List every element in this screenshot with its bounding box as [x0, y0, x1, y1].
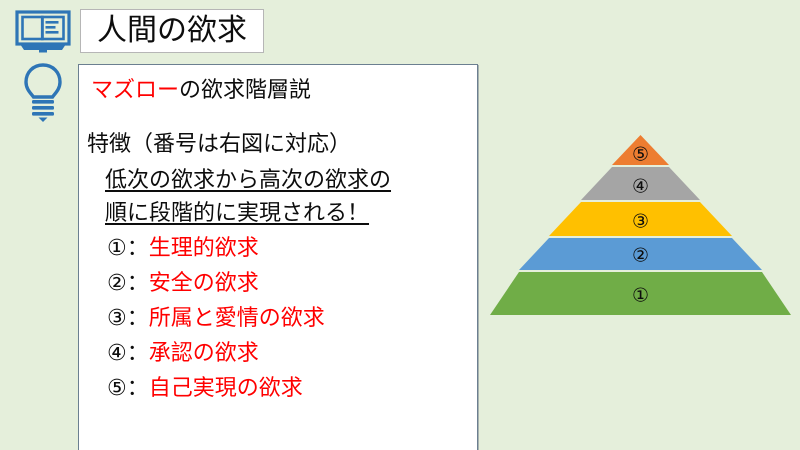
maslow-heading-accent: マズロー [91, 77, 179, 102]
slide-canvas: 人間の欲求 マズローの欲求階層説 特徴（番号は右図に対応） 低次の欲求から高次の… [0, 0, 800, 450]
pyramid-tier-3-label: ③ [632, 213, 649, 232]
list-item-label: 承認の欲求 [149, 340, 259, 365]
key-point-line-1: 低次の欲求から高次の欲求の [105, 169, 391, 191]
maslow-hierarchy-pyramid: ⑤ ④ ③ ② ① [488, 130, 793, 322]
lightbulb-icon [20, 62, 66, 122]
list-item-marker: ③： [107, 305, 149, 330]
list-item-marker: ②： [107, 270, 149, 295]
maslow-heading-rest: の欲求階層説 [179, 77, 311, 102]
list-item: ①：生理的欲求 [107, 237, 259, 259]
maslow-heading: マズローの欲求階層説 [91, 79, 311, 101]
list-item-label: 自己実現の欲求 [149, 375, 303, 400]
list-item-marker: ⑤： [107, 375, 149, 400]
list-item: ③：所属と愛情の欲求 [107, 307, 325, 329]
pyramid-tier-2-label: ② [632, 247, 649, 266]
list-item-label: 安全の欲求 [149, 270, 259, 295]
list-item-marker: ④： [107, 340, 149, 365]
page-title-text: 人間の欲求 [97, 16, 247, 46]
list-item-label: 所属と愛情の欲求 [149, 305, 325, 330]
pyramid-tier-4-label: ④ [632, 178, 649, 197]
pyramid-tier-1-label: ① [632, 287, 649, 306]
page-title: 人間の欲求 [80, 9, 264, 53]
pyramid-tier-5-label: ⑤ [632, 146, 649, 165]
list-item: ⑤：自己実現の欲求 [107, 377, 303, 399]
list-item: ④：承認の欲求 [107, 342, 259, 364]
open-book-icon [14, 10, 72, 54]
content-panel: マズローの欲求階層説 特徴（番号は右図に対応） 低次の欲求から高次の欲求の 順に… [78, 64, 478, 450]
key-point-line-2: 順に段階的に実現される！ [105, 202, 369, 224]
list-item: ②：安全の欲求 [107, 272, 259, 294]
list-item-marker: ①： [107, 235, 149, 260]
list-item-label: 生理的欲求 [149, 235, 259, 260]
feature-label: 特徴（番号は右図に対応） [87, 133, 351, 155]
